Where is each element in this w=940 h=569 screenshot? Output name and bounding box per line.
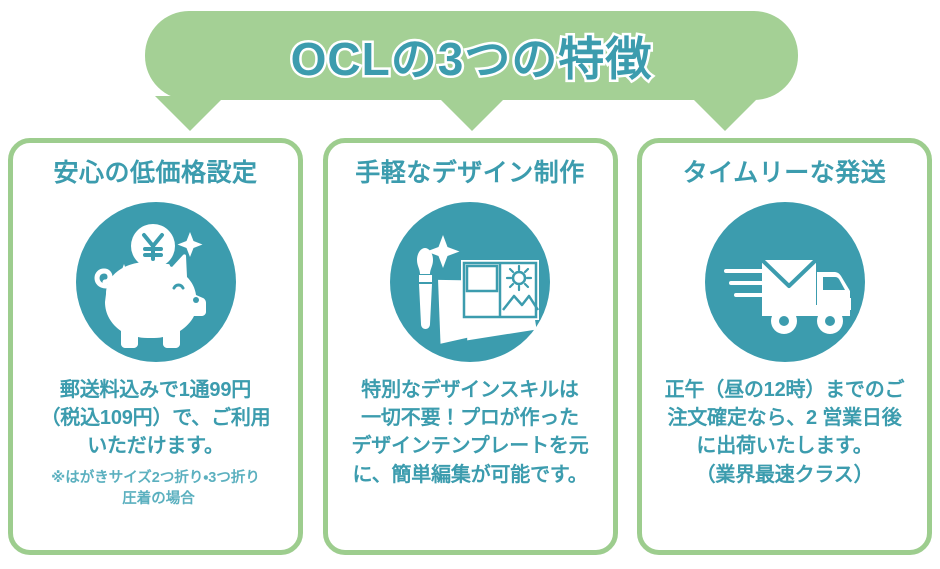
delivery-truck-envelope-icon — [705, 202, 865, 362]
banner-tail-3 — [690, 96, 760, 131]
card-body-line: 一切不要！プロが作った — [352, 404, 589, 432]
card-footnote: ※はがきサイズ2つ折り・3つ折り 圧着の場合 — [51, 468, 260, 512]
page-title: OCLの3つの特徴 — [145, 11, 798, 100]
card-footnote-line: 圧着の場合 — [51, 489, 260, 511]
card-body-line: に、簡単編集が可能です。 — [352, 461, 589, 489]
card-body-line: （業界最速クラス） — [665, 461, 905, 489]
card-body-line: （税込109円）で、ご利用 — [41, 404, 271, 432]
card-body-line: に出荷いたします。 — [665, 432, 905, 460]
card-body-line: いただけます。 — [41, 432, 271, 460]
header-banner: OCLの3つの特徴 — [0, 0, 940, 134]
card-footnote-line: ※はがきサイズ2つ折り・3つ折り — [51, 468, 260, 490]
piggy-bank-yen-icon — [76, 202, 236, 362]
feature-cards-row: 安心の低価格設定 郵送料込みで1通99円 （税込109円）で、ご利用 いただけま… — [0, 138, 940, 562]
card-body: 正午（昼の12時）までのご 注文確定なら、2 営業日後 に出荷いたします。 （業… — [665, 376, 905, 490]
card-body: 特別なデザインスキルは 一切不要！プロが作った デザインテンプレートを元 に、簡… — [352, 376, 589, 490]
card-body-line: デザインテンプレートを元 — [352, 432, 589, 460]
banner-tails — [155, 96, 760, 131]
banner-tail-1 — [155, 96, 225, 131]
feature-card-low-price[interactable]: 安心の低価格設定 郵送料込みで1通99円 （税込109円）で、ご利用 いただけま… — [8, 138, 303, 555]
card-title: 安心の低価格設定 — [53, 160, 257, 188]
card-title: 手軽なデザイン制作 — [355, 160, 585, 188]
feature-card-timely-shipping[interactable]: タイムリーな発送 正午（昼の12時）までのご — [637, 138, 932, 555]
feature-card-easy-design[interactable]: 手軽なデザイン制作 — [323, 138, 618, 555]
card-body-line: 注文確定なら、2 営業日後 — [665, 404, 905, 432]
card-body: 郵送料込みで1通99円 （税込109円）で、ご利用 いただけます。 — [41, 376, 271, 461]
card-title: タイムリーな発送 — [683, 160, 887, 188]
paintbrush-design-template-icon — [390, 202, 550, 362]
card-body-line: 特別なデザインスキルは — [352, 376, 589, 404]
card-body-line: 郵送料込みで1通99円 — [41, 376, 271, 404]
banner-tail-2 — [437, 96, 507, 131]
card-body-line: 正午（昼の12時）までのご — [665, 376, 905, 404]
